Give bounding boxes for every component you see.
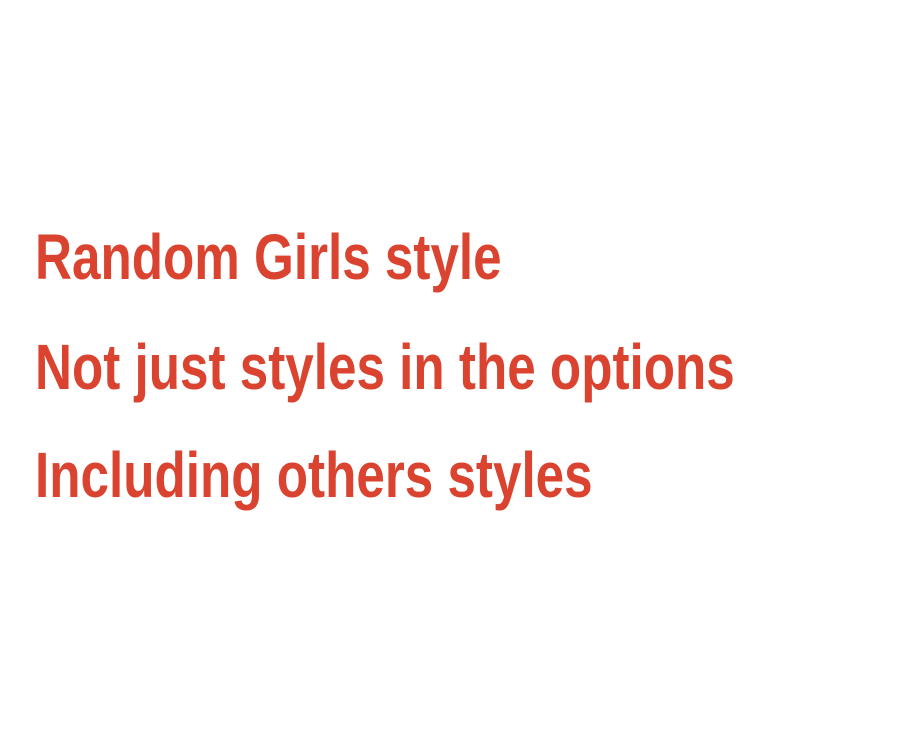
- headline-line-2-container: Not just styles in the options: [0, 313, 909, 422]
- headline-line-3-container: Including others styles: [0, 421, 909, 530]
- headline-line-3: Including others styles: [35, 421, 734, 530]
- headline-line-1-container: Random Girls style: [0, 203, 909, 312]
- image-canvas: Random Girls style Not just styles in th…: [0, 0, 909, 733]
- headline-line-2: Not just styles in the options: [35, 313, 734, 422]
- headline-line-1: Random Girls style: [35, 203, 734, 312]
